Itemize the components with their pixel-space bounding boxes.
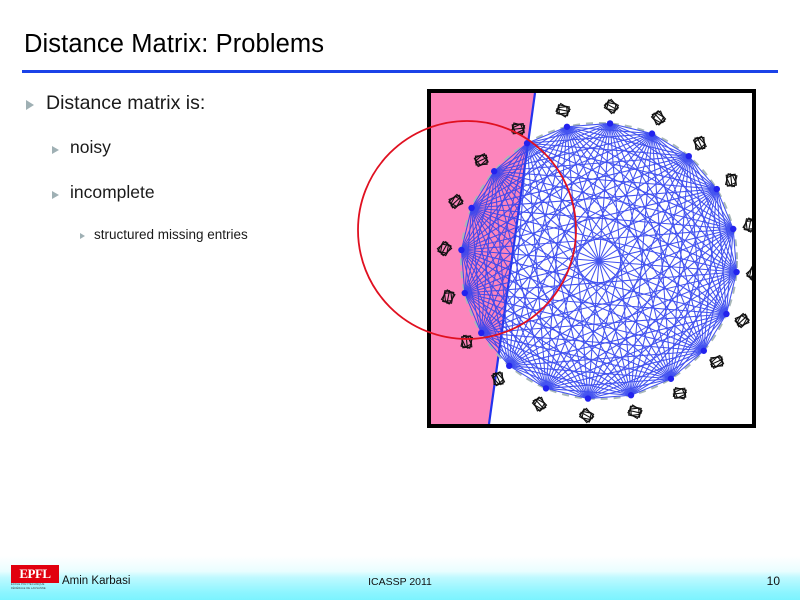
footer-fade bbox=[0, 556, 800, 572]
figure-image bbox=[427, 89, 756, 428]
triangle-right-icon bbox=[80, 233, 85, 239]
sensor-icon bbox=[742, 217, 752, 233]
sensor-icon bbox=[733, 311, 752, 329]
bullet-label: incomplete bbox=[70, 182, 155, 203]
triangle-right-icon bbox=[52, 146, 59, 154]
bullet-item-level1: Distance matrix is: bbox=[26, 92, 205, 115]
sensor-network-diagram bbox=[431, 93, 752, 424]
bullet-item-level2-incomplete: incomplete bbox=[52, 182, 155, 203]
sensor-icon bbox=[555, 103, 571, 118]
bullet-item-level2-noisy: noisy bbox=[52, 137, 111, 158]
footer-page-number: 10 bbox=[767, 574, 780, 588]
title-divider bbox=[22, 70, 778, 73]
sensor-icon bbox=[672, 386, 687, 400]
presentation-slide: Distance Matrix: Problems Distance matri… bbox=[0, 0, 800, 600]
sensor-icon bbox=[745, 264, 752, 282]
sensor-icon bbox=[602, 98, 620, 116]
sensor-icon bbox=[627, 404, 643, 419]
footer-event: ICASSP 2011 bbox=[0, 576, 800, 588]
page-title: Distance Matrix: Problems bbox=[24, 30, 324, 59]
bullet-label: Distance matrix is: bbox=[46, 92, 205, 115]
sensor-icon bbox=[530, 395, 548, 414]
triangle-right-icon bbox=[52, 191, 59, 199]
sensor-icon bbox=[724, 173, 738, 188]
bullet-label: noisy bbox=[70, 137, 111, 158]
bullet-label: structured missing entries bbox=[94, 227, 248, 242]
sensor-icon bbox=[578, 407, 596, 424]
sensor-icon bbox=[691, 134, 708, 152]
triangle-right-icon bbox=[26, 100, 34, 110]
bullet-item-level3-structured: structured missing entries bbox=[80, 227, 248, 242]
sensor-icon bbox=[708, 353, 726, 370]
sensor-icon bbox=[649, 109, 667, 128]
